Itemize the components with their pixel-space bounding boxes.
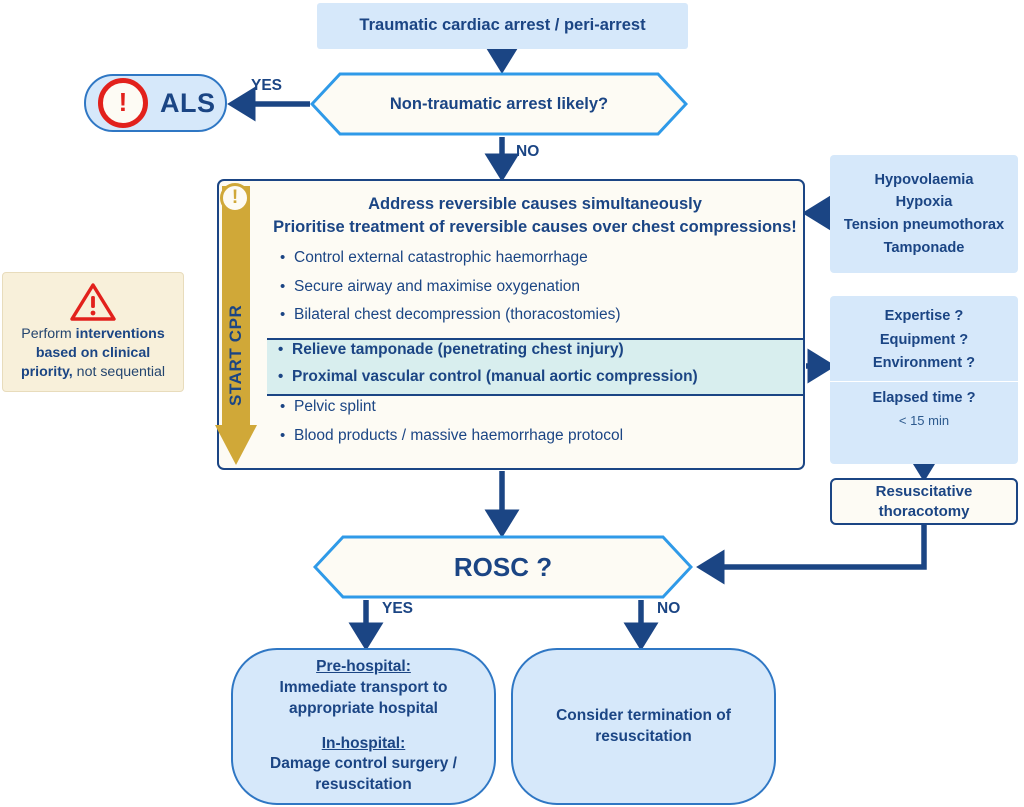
node-feasibility-checks[interactable]: Expertise ? Equipment ? Environment ? El…: [830, 296, 1018, 464]
bullet-icon: •: [280, 249, 294, 267]
node-address-reversible-causes[interactable]: Address reversible causes simultaneously…: [217, 179, 805, 470]
list-item[interactable]: • Bilateral chest decompression (thoraco…: [269, 306, 805, 335]
node-als[interactable]: ! ALS: [84, 74, 227, 132]
pre-hospital-line-1: Immediate transport to: [280, 678, 448, 699]
termination-line-1: Consider termination of: [556, 706, 731, 727]
bullet-icon: •: [278, 341, 292, 359]
feasibility-item: Equipment ?: [880, 331, 968, 350]
feasibility-item: Environment ?: [873, 354, 975, 373]
list-item[interactable]: • Pelvic splint: [269, 398, 805, 427]
cause-item: Tamponade: [884, 239, 965, 258]
bullet-icon: •: [280, 427, 294, 445]
main-heading-line-1: Address reversible causes simultaneously: [271, 193, 799, 216]
in-hospital-heading: In-hospital:: [322, 734, 406, 755]
decision-rosc-label: ROSC ?: [313, 535, 693, 599]
elapsed-time-value: < 15 min: [899, 413, 949, 430]
edge-label-no-rosc: NO: [657, 600, 680, 618]
thoracotomy-line-1: Resuscitative: [876, 482, 973, 502]
decision-non-traumatic-label: Non-traumatic arrest likely?: [310, 72, 688, 136]
bullet-icon: •: [280, 278, 294, 296]
cause-item: Hypovolaemia: [875, 171, 974, 190]
main-heading-line-2: Prioritise treatment of reversible cause…: [271, 216, 799, 239]
feasibility-item: Expertise ?: [885, 307, 964, 326]
edge-thoracotomy-to-rosc: [706, 525, 924, 567]
note-text-lead: Perform: [21, 326, 75, 342]
list-item[interactable]: • Control external catastrophic haemorrh…: [269, 249, 805, 278]
edge-label-no-top: NO: [516, 143, 539, 161]
arrow-head-down-icon: [215, 425, 257, 465]
node-outcome-rosc-yes[interactable]: Pre-hospital: Immediate transport to app…: [231, 648, 496, 805]
alert-exclamation-circle-icon: !: [98, 78, 148, 128]
node-decision-rosc[interactable]: ROSC ?: [313, 535, 693, 599]
in-hospital-line-1: Damage control surgery /: [270, 754, 457, 775]
pre-hospital-heading: Pre-hospital:: [316, 657, 411, 678]
list-item[interactable]: • Secure airway and maximise oxygenation: [269, 278, 805, 307]
node-reversible-causes[interactable]: Hypovolaemia Hypoxia Tension pneumothora…: [830, 155, 1018, 273]
note-text-tail: not sequential: [73, 364, 165, 380]
elapsed-time-label: Elapsed time ?: [873, 389, 976, 408]
intervention-list: • Control external catastrophic haemorrh…: [269, 249, 805, 335]
edge-label-yes-rosc: YES: [382, 600, 413, 618]
start-cpr-alert-icon: !: [220, 183, 250, 213]
list-item[interactable]: • Proximal vascular control (manual aort…: [267, 368, 805, 395]
edge-label-yes-top: YES: [251, 77, 282, 95]
main-box-heading: Address reversible causes simultaneously…: [271, 193, 799, 240]
thoracotomy-line-2: thoracotomy: [879, 502, 970, 522]
termination-line-2: resuscitation: [595, 727, 691, 748]
list-item[interactable]: • Relieve tamponade (penetrating chest i…: [267, 341, 805, 368]
intervention-list-bottom: • Pelvic splint • Blood products / massi…: [269, 398, 805, 455]
node-resuscitative-thoracotomy[interactable]: Resuscitative thoracotomy: [830, 478, 1018, 525]
node-decision-non-traumatic[interactable]: Non-traumatic arrest likely?: [310, 72, 688, 136]
als-label: ALS: [160, 86, 216, 121]
cause-item: Tension pneumothorax: [844, 216, 1004, 235]
cause-item: Hypoxia: [896, 193, 953, 212]
highlighted-intervention-band[interactable]: • Relieve tamponade (penetrating chest i…: [267, 338, 805, 396]
note-clinical-priority: Perform interventions based on clinical …: [2, 272, 184, 392]
node-traumatic-cardiac-arrest[interactable]: Traumatic cardiac arrest / peri-arrest: [317, 3, 688, 49]
flowchart-canvas: Traumatic cardiac arrest / peri-arrest !…: [0, 0, 1024, 807]
list-item[interactable]: • Blood products / massive haemorrhage p…: [269, 427, 805, 456]
divider: [830, 381, 1018, 382]
bullet-icon: •: [280, 398, 294, 416]
bullet-icon: •: [280, 306, 294, 324]
pre-hospital-line-2: appropriate hospital: [289, 699, 438, 720]
bullet-icon: •: [278, 368, 292, 386]
in-hospital-line-2: resuscitation: [315, 775, 411, 796]
node-outcome-rosc-no[interactable]: Consider termination of resuscitation: [511, 648, 776, 805]
warning-triangle-icon: [70, 282, 116, 322]
start-cpr-label: START CPR: [222, 290, 250, 420]
